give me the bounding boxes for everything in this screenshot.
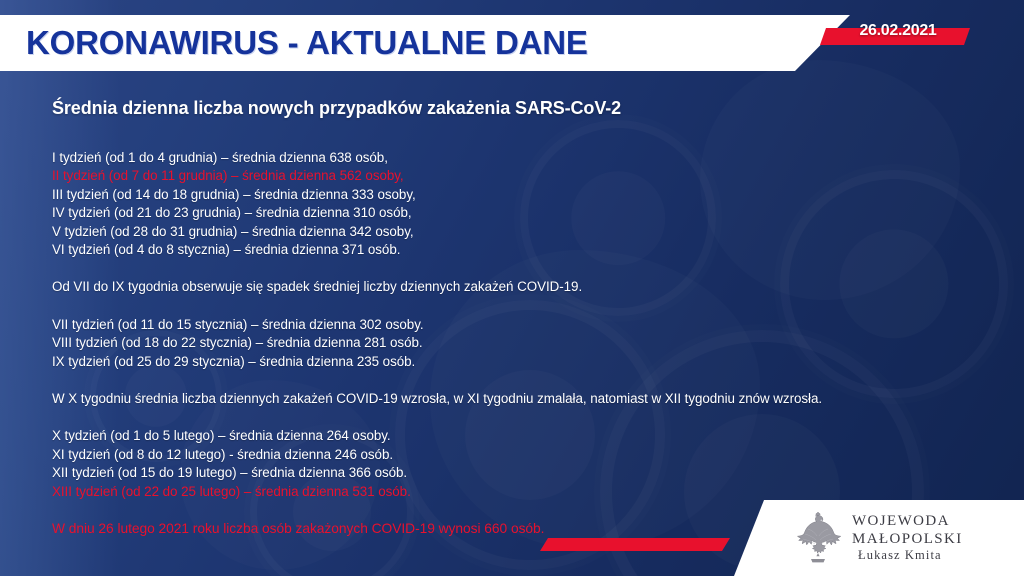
- weeks-block-three: X tydzień (od 1 do 5 lutego) – średnia d…: [52, 427, 952, 501]
- paragraph-text: Od VII do IX tygodnia obserwuje się spad…: [52, 278, 872, 296]
- paragraph-two-block: W X tygodniu średnia liczba dziennych za…: [52, 390, 952, 408]
- footer-text: WOJEWODA MAŁOPOLSKI Łukasz Kmita: [852, 513, 963, 563]
- footer-line-one: WOJEWODA: [852, 513, 963, 531]
- week-line: IX tydzień (od 25 do 29 stycznia) – śred…: [52, 353, 952, 371]
- week-line: V tydzień (od 28 do 31 grudnia) – średni…: [52, 223, 952, 241]
- week-line: II tydzień (od 7 do 11 grudnia) – średni…: [52, 167, 952, 185]
- week-line: VI tydzień (od 4 do 8 stycznia) – średni…: [52, 241, 952, 259]
- footer-line-two: MAŁOPOLSKI: [852, 531, 963, 549]
- week-line: VII tydzień (od 11 do 15 stycznia) – śre…: [52, 316, 952, 334]
- paragraph-one-block: Od VII do IX tygodnia obserwuje się spad…: [52, 278, 952, 296]
- weeks-block-one: I tydzień (od 1 do 4 grudnia) – średnia …: [52, 149, 952, 259]
- week-line: XII tydzień (od 15 do 19 lutego) – średn…: [52, 464, 952, 482]
- header: KORONAWIRUS - AKTUALNE DANE 26.02.2021: [0, 0, 1024, 86]
- slide-root: KORONAWIRUS - AKTUALNE DANE 26.02.2021 Ś…: [0, 0, 1024, 576]
- week-line: VIII tydzień (od 18 do 22 stycznia) – śr…: [52, 334, 952, 352]
- week-line: XI tydzień (od 8 do 12 lutego) - średnia…: [52, 446, 952, 464]
- paragraph-text: W X tygodniu średnia liczba dziennych za…: [52, 390, 872, 408]
- footer-line-three: Łukasz Kmita: [852, 548, 963, 563]
- week-line: IV tydzień (od 21 do 23 grudnia) – średn…: [52, 204, 952, 222]
- weeks-block-two: VII tydzień (od 11 do 15 stycznia) – śre…: [52, 316, 952, 371]
- week-line: XIII tydzień (od 22 do 25 lutego) – śred…: [52, 483, 952, 501]
- week-line: I tydzień (od 1 do 4 grudnia) – średnia …: [52, 149, 952, 167]
- week-line: X tydzień (od 1 do 5 lutego) – średnia d…: [52, 427, 952, 445]
- main-content: Średnia dzienna liczba nowych przypadków…: [52, 98, 952, 558]
- header-date: 26.02.2021: [818, 22, 978, 40]
- page-title: KORONAWIRUS - AKTUALNE DANE: [26, 21, 786, 65]
- section-subtitle: Średnia dzienna liczba nowych przypadków…: [52, 98, 952, 119]
- polish-eagle-emblem-icon: [792, 509, 844, 567]
- week-line: III tydzień (od 14 do 18 grudnia) – śred…: [52, 186, 952, 204]
- footer: WOJEWODA MAŁOPOLSKI Łukasz Kmita: [734, 500, 1024, 576]
- footer-accent-bar: [540, 538, 730, 551]
